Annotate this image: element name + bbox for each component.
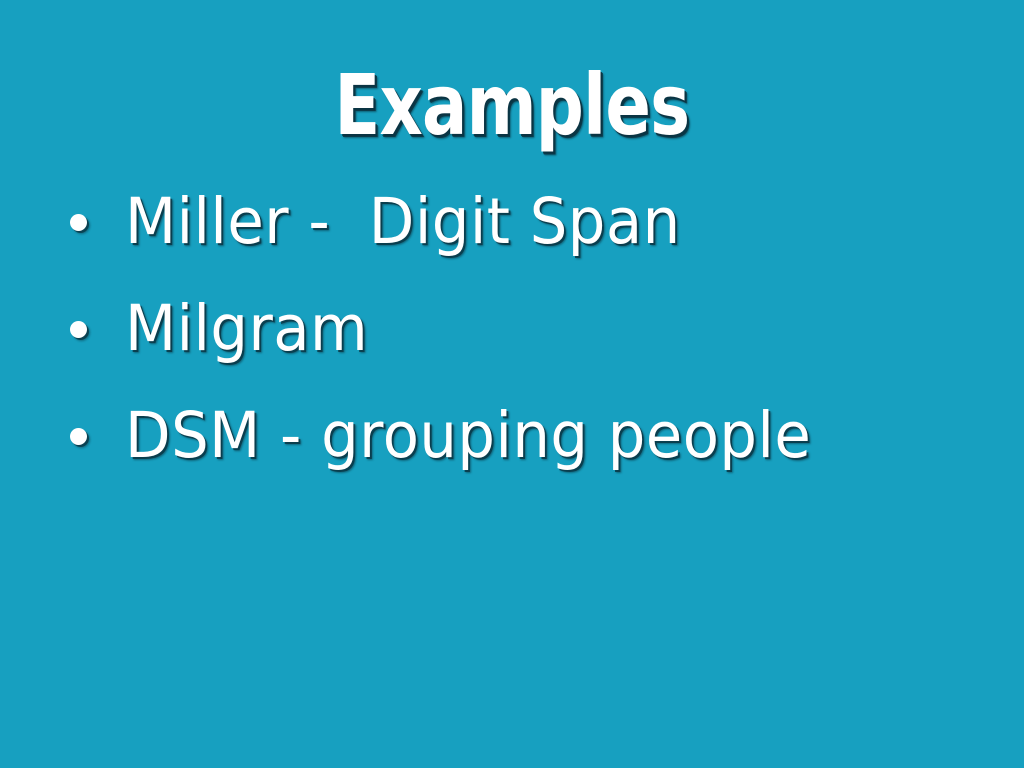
list-item: Miller - Digit Span	[58, 168, 998, 275]
list-item: Milgram	[58, 275, 998, 382]
list-item: DSM - grouping people	[58, 382, 998, 489]
bullet-list: Miller - Digit Span Milgram DSM - groupi…	[58, 168, 998, 489]
title-block: Examples	[0, 62, 1024, 148]
presentation-slide: Examples Miller - Digit Span Milgram DSM…	[0, 0, 1024, 768]
bullet-dot-icon	[70, 214, 87, 231]
list-item-label: Milgram	[125, 293, 368, 365]
list-item-label: Miller - Digit Span	[125, 186, 681, 258]
list-item-label: DSM - grouping people	[125, 400, 811, 472]
bullet-dot-icon	[70, 321, 87, 338]
page-title: Examples	[335, 62, 690, 148]
bullet-dot-icon	[70, 428, 87, 445]
